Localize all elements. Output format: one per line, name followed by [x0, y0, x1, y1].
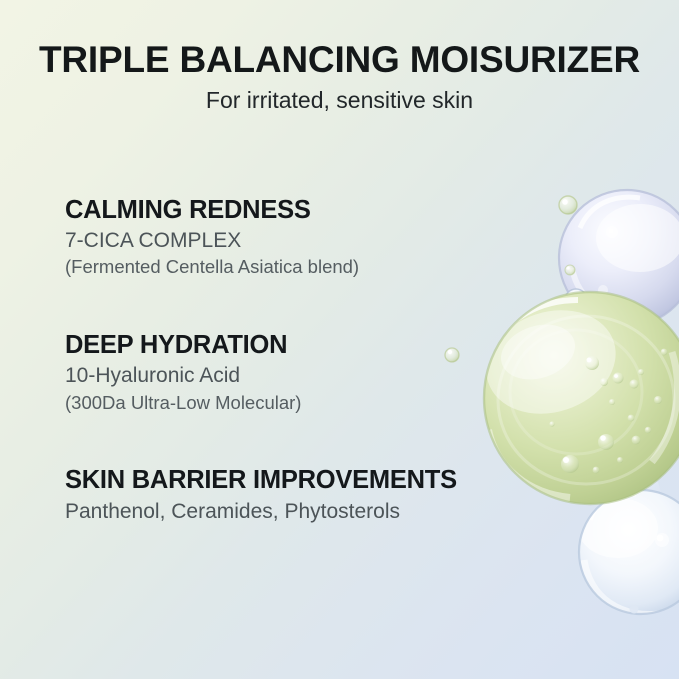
- page-subtitle: For irritated, sensitive skin: [0, 88, 679, 113]
- feature-heading: DEEP HYDRATION: [65, 331, 535, 360]
- feature-ingredient: 10-Hyaluronic Acid: [65, 363, 535, 390]
- bubble-middle: [565, 265, 575, 275]
- clear-droplet-bottom: [578, 490, 679, 615]
- feature-heading: SKIN BARRIER IMPROVEMENTS: [65, 466, 535, 495]
- gel-neck-lower: [598, 482, 672, 548]
- feature-skin-barrier: SKIN BARRIER IMPROVEMENTS Panthenol, Cer…: [65, 466, 535, 525]
- page-title: TRIPLE BALANCING MOISURIZER: [0, 40, 679, 79]
- feature-ingredient: Panthenol, Ceramides, Phytosterols: [65, 499, 535, 526]
- feature-heading: CALMING REDNESS: [65, 196, 535, 225]
- gel-neck-upper: [586, 276, 652, 332]
- bubble-top: [559, 196, 577, 214]
- feature-ingredient: 7-CICA COMPLEX: [65, 228, 535, 255]
- feature-list: CALMING REDNESS 7-CICA COMPLEX (Fermente…: [65, 196, 535, 526]
- headline-block: TRIPLE BALANCING MOISURIZER For irritate…: [0, 40, 679, 114]
- feature-calming-redness: CALMING REDNESS 7-CICA COMPLEX (Fermente…: [65, 196, 535, 279]
- feature-deep-hydration: DEEP HYDRATION 10-Hyaluronic Acid (300Da…: [65, 331, 535, 414]
- feature-detail: (Fermented Centella Asiatica blend): [65, 255, 535, 279]
- product-feature-poster: TRIPLE BALANCING MOISURIZER For irritate…: [0, 0, 679, 679]
- lavender-sphere-top: [559, 190, 679, 326]
- feature-detail: (300Da Ultra-Low Molecular): [65, 391, 535, 415]
